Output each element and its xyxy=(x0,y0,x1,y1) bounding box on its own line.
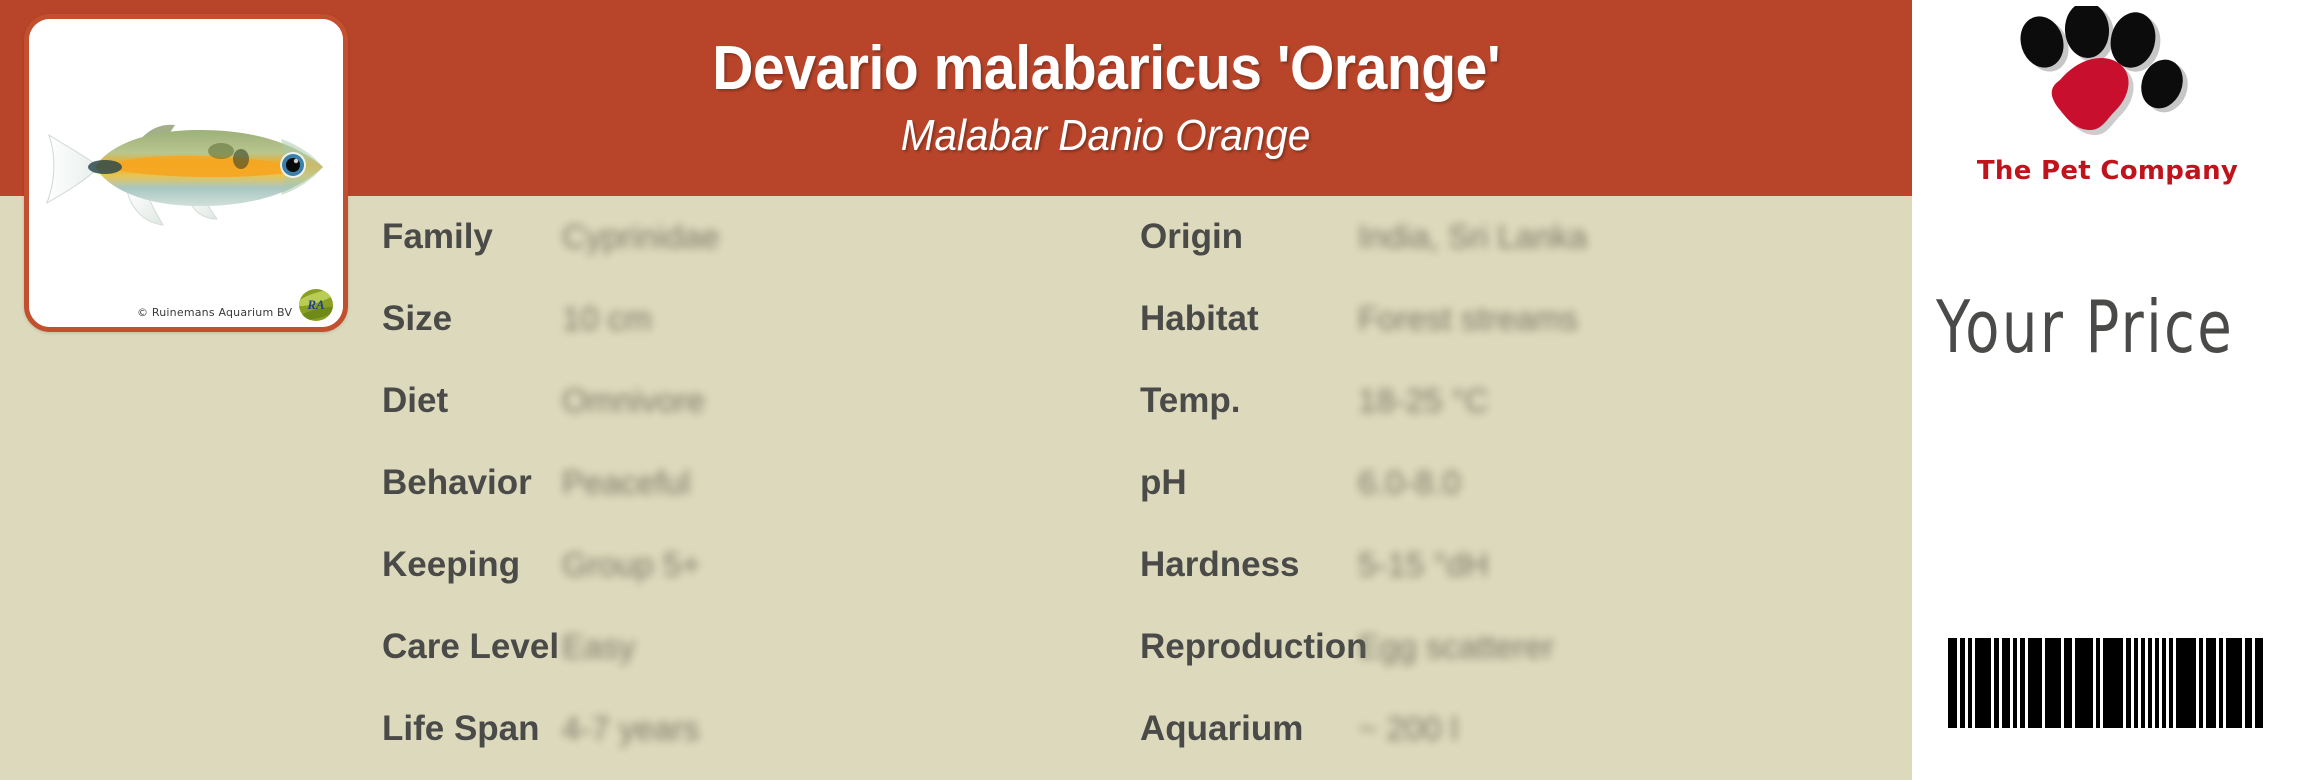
spec-label-diet: Diet xyxy=(382,381,562,421)
barcode-bar xyxy=(2245,638,2252,728)
barcode-bar xyxy=(2162,638,2166,728)
spec-value-behavior: Peaceful xyxy=(562,464,690,502)
spec-row-family: Family Cyprinidae xyxy=(382,196,1142,278)
spec-row-ph: pH 6.0-8.0 xyxy=(1140,442,1912,524)
barcode-bar xyxy=(1994,638,1999,728)
barcode-bar xyxy=(2169,638,2173,728)
barcode-bar xyxy=(2255,638,2263,728)
spec-row-behavior: Behavior Peaceful xyxy=(382,442,1142,524)
spec-row-habitat: Habitat Forest streams xyxy=(1140,278,1912,360)
spec-label-reproduction: Reproduction xyxy=(1140,627,1358,667)
brand-logo: The Pet Company xyxy=(1912,6,2303,206)
barcode-bar xyxy=(1975,638,1991,728)
spec-row-diet: Diet Omnivore xyxy=(382,360,1142,442)
barcode-bar xyxy=(2219,638,2223,728)
spec-label-habitat: Habitat xyxy=(1140,299,1358,339)
spec-value-keeping: Group 5+ xyxy=(562,546,701,584)
spec-label-family: Family xyxy=(382,217,562,257)
barcode-bar xyxy=(2028,638,2042,728)
barcode-bar xyxy=(2002,638,2010,728)
barcode-bar xyxy=(2103,638,2123,728)
spec-label-life-span: Life Span xyxy=(382,709,562,749)
barcode-bar xyxy=(1960,638,1965,728)
spec-label-hardness: Hardness xyxy=(1140,545,1358,585)
spec-value-life-span: 4-7 years xyxy=(562,710,700,748)
spec-label-ph: pH xyxy=(1140,463,1358,503)
barcode-bar xyxy=(2126,638,2131,728)
spec-value-temp: 18-25 °C xyxy=(1358,382,1489,420)
barcode-bar xyxy=(2020,638,2025,728)
spec-value-size: 10 cm xyxy=(562,300,652,338)
spec-row-origin: Origin India, Sri Lanka xyxy=(1140,196,1912,278)
barcode-bar xyxy=(2075,638,2093,728)
barcode-bar xyxy=(2013,638,2017,728)
title-block: Devario malabaricus 'Orange' Malabar Dan… xyxy=(300,0,1912,196)
spec-label-origin: Origin xyxy=(1140,217,1358,257)
species-title: Devario malabaricus 'Orange' xyxy=(712,37,1500,100)
spec-row-life-span: Life Span 4-7 years xyxy=(382,688,1142,770)
barcode-bar xyxy=(2206,638,2216,728)
barcode-bar xyxy=(2199,638,2203,728)
spec-value-reproduction: Egg scatterer xyxy=(1358,628,1554,666)
barcode-bar xyxy=(2155,638,2159,728)
barcode-bar xyxy=(2134,638,2138,728)
spec-row-size: Size 10 cm xyxy=(382,278,1142,360)
spec-label-care-level: Care Level xyxy=(382,627,562,667)
barcode-bar xyxy=(2096,638,2100,728)
spec-column-right: Origin India, Sri Lanka Habitat Forest s… xyxy=(1140,196,1912,780)
spec-label-aquarium: Aquarium xyxy=(1140,709,1358,749)
product-barcode xyxy=(1948,638,2278,728)
spec-column-left: Family Cyprinidae Size 10 cm Diet Omnivo… xyxy=(382,196,1142,780)
barcode-bar xyxy=(2064,638,2072,728)
spec-value-habitat: Forest streams xyxy=(1358,300,1578,338)
spec-value-hardness: 5-15 °dH xyxy=(1358,546,1489,584)
barcode-bar xyxy=(2141,638,2145,728)
spec-row-hardness: Hardness 5-15 °dH xyxy=(1140,524,1912,606)
fish-info-label-card: Devario malabaricus 'Orange' Malabar Dan… xyxy=(0,0,1912,780)
spec-value-family: Cyprinidae xyxy=(562,218,720,256)
price-panel: The Pet Company Your Price xyxy=(1912,0,2303,780)
paw-print-icon xyxy=(2004,6,2214,156)
common-name-subtitle: Malabar Danio Orange xyxy=(901,113,1311,159)
spec-row-care-level: Care Level Easy xyxy=(382,606,1142,688)
brand-name: The Pet Company xyxy=(1912,156,2303,186)
spec-label-keeping: Keeping xyxy=(382,545,562,585)
barcode-bar xyxy=(2148,638,2152,728)
your-price-label: Your Price xyxy=(1936,285,2295,369)
spec-label-temp: Temp. xyxy=(1140,381,1358,421)
barcode-bar xyxy=(2176,638,2196,728)
spec-value-care-level: Easy xyxy=(562,628,635,666)
spec-label-behavior: Behavior xyxy=(382,463,562,503)
spec-value-origin: India, Sri Lanka xyxy=(1358,218,1587,256)
spec-value-diet: Omnivore xyxy=(562,382,705,420)
spec-row-reproduction: Reproduction Egg scatterer xyxy=(1140,606,1912,688)
spec-row-aquarium: Aquarium ~ 200 l xyxy=(1140,688,1912,770)
barcode-bar xyxy=(1948,638,1957,728)
barcode-bar xyxy=(1968,638,1972,728)
spec-table: Family Cyprinidae Size 10 cm Diet Omnivo… xyxy=(0,196,1912,780)
spec-label-size: Size xyxy=(382,299,562,339)
spec-value-ph: 6.0-8.0 xyxy=(1358,464,1461,502)
barcode-bar xyxy=(2045,638,2061,728)
spec-row-temp: Temp. 18-25 °C xyxy=(1140,360,1912,442)
spec-row-keeping: Keeping Group 5+ xyxy=(382,524,1142,606)
barcode-bar xyxy=(2226,638,2242,728)
spec-value-aquarium: ~ 200 l xyxy=(1358,710,1458,748)
